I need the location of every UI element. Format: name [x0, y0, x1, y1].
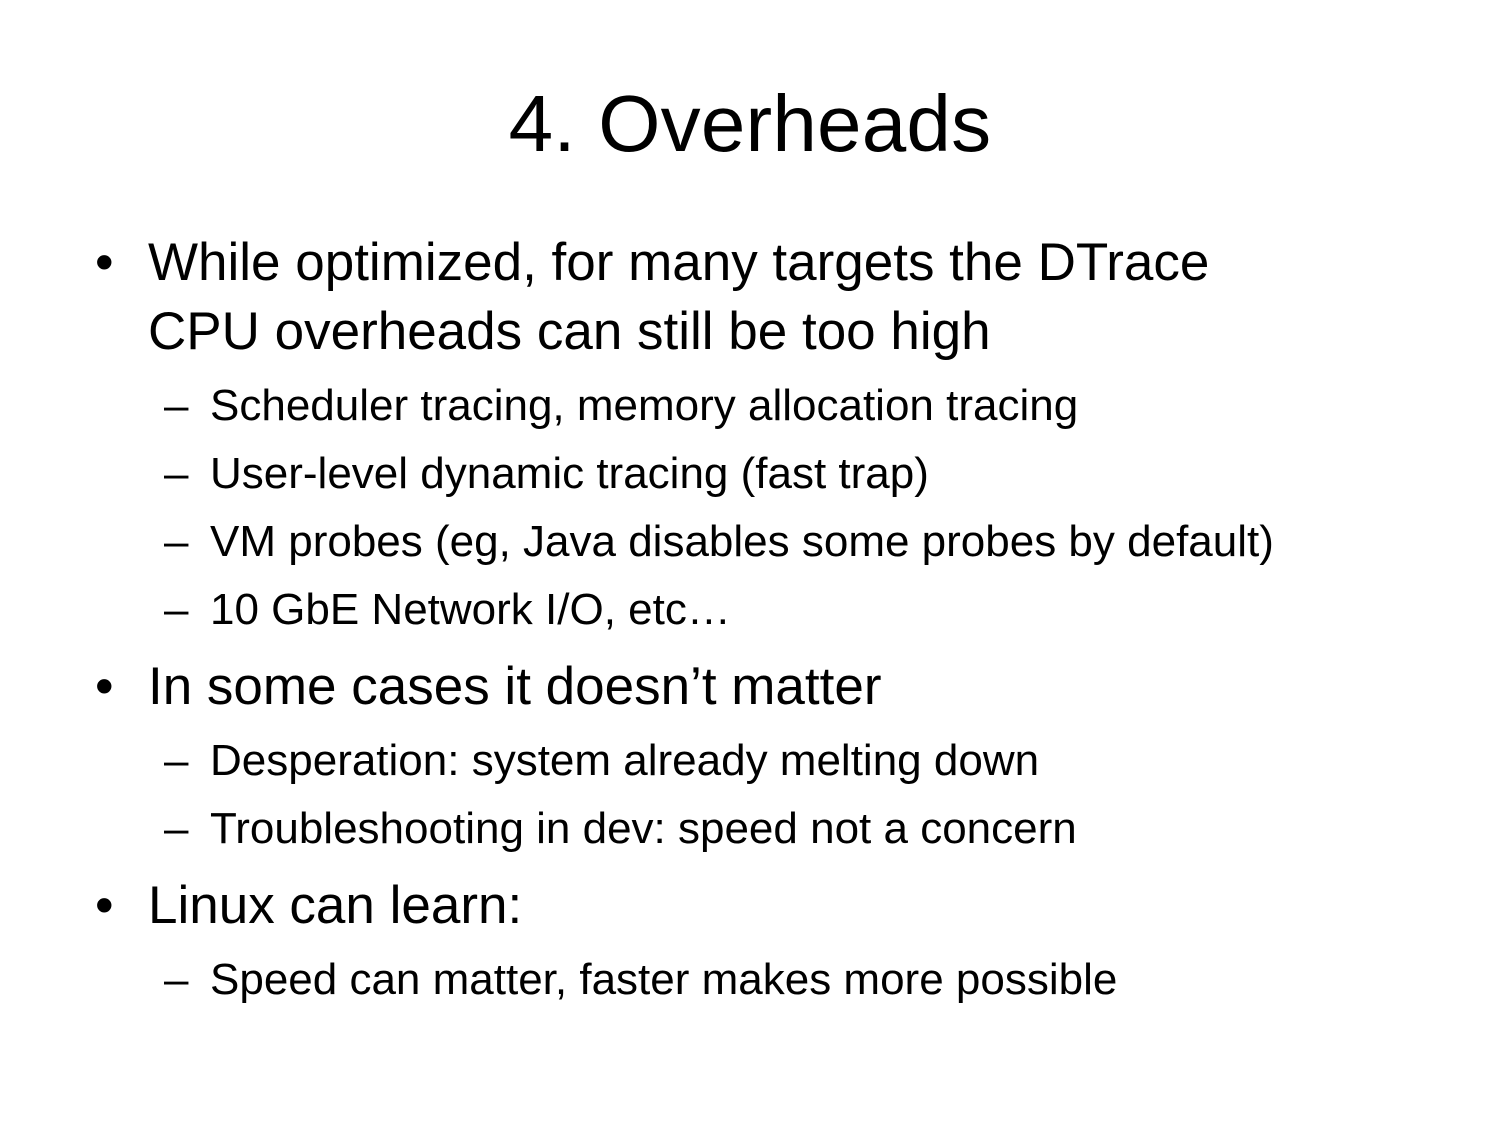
bullet-marker-icon: • [95, 871, 125, 940]
sub-bullet-text: Scheduler tracing, memory allocation tra… [210, 372, 1440, 440]
sub-bullet-wrapper: – Scheduler tracing, memory allocation t… [148, 372, 1440, 644]
dash-marker-icon: – [164, 372, 198, 440]
sub-bullet-item: – VM probes (eg, Java disables some prob… [148, 508, 1440, 576]
dash-marker-icon: – [164, 440, 198, 508]
sub-bullet-text: Speed can matter, faster makes more poss… [210, 946, 1440, 1014]
slide-body: • While optimized, for many targets the … [0, 228, 1440, 1022]
sub-bullet-wrapper: – Desperation: system already melting do… [148, 727, 1440, 863]
bullet-text: In some cases it doesn’t matter [148, 652, 1323, 721]
sub-bullet-text: VM probes (eg, Java disables some probes… [210, 508, 1440, 576]
sub-bullet-item: – 10 GbE Network I/O, etc… [148, 576, 1440, 644]
bullet-item: • While optimized, for many targets the … [0, 228, 1440, 644]
sub-bullet-item: – Speed can matter, faster makes more po… [148, 946, 1440, 1014]
bullet-item: • Linux can learn: – Speed can matter, f… [0, 871, 1440, 1014]
sub-bullet-item: – User-level dynamic tracing (fast trap) [148, 440, 1440, 508]
sub-bullet-text: User-level dynamic tracing (fast trap) [210, 440, 1440, 508]
bullet-marker-icon: • [95, 228, 125, 297]
bullet-list-level1: • While optimized, for many targets the … [0, 228, 1440, 1014]
bullet-list-level2: – Desperation: system already melting do… [148, 727, 1440, 863]
sub-bullet-item: – Scheduler tracing, memory allocation t… [148, 372, 1440, 440]
sub-bullet-text: Troubleshooting in dev: speed not a conc… [210, 795, 1440, 863]
dash-marker-icon: – [164, 576, 198, 644]
dash-marker-icon: – [164, 795, 198, 863]
sub-bullet-item: – Troubleshooting in dev: speed not a co… [148, 795, 1440, 863]
bullet-text: Linux can learn: [148, 871, 1323, 940]
dash-marker-icon: – [164, 727, 198, 795]
bullet-text: While optimized, for many targets the DT… [148, 228, 1323, 366]
presentation-slide: 4. Overheads • While optimized, for many… [0, 0, 1500, 1125]
sub-bullet-text: 10 GbE Network I/O, etc… [210, 576, 1440, 644]
bullet-item: • In some cases it doesn’t matter – Desp… [0, 652, 1440, 863]
bullet-marker-icon: • [95, 652, 125, 721]
dash-marker-icon: – [164, 508, 198, 576]
sub-bullet-wrapper: – Speed can matter, faster makes more po… [148, 946, 1440, 1014]
bullet-list-level2: – Scheduler tracing, memory allocation t… [148, 372, 1440, 644]
slide-title: 4. Overheads [0, 78, 1500, 170]
sub-bullet-item: – Desperation: system already melting do… [148, 727, 1440, 795]
dash-marker-icon: – [164, 946, 198, 1014]
sub-bullet-text: Desperation: system already melting down [210, 727, 1440, 795]
bullet-list-level2: – Speed can matter, faster makes more po… [148, 946, 1440, 1014]
